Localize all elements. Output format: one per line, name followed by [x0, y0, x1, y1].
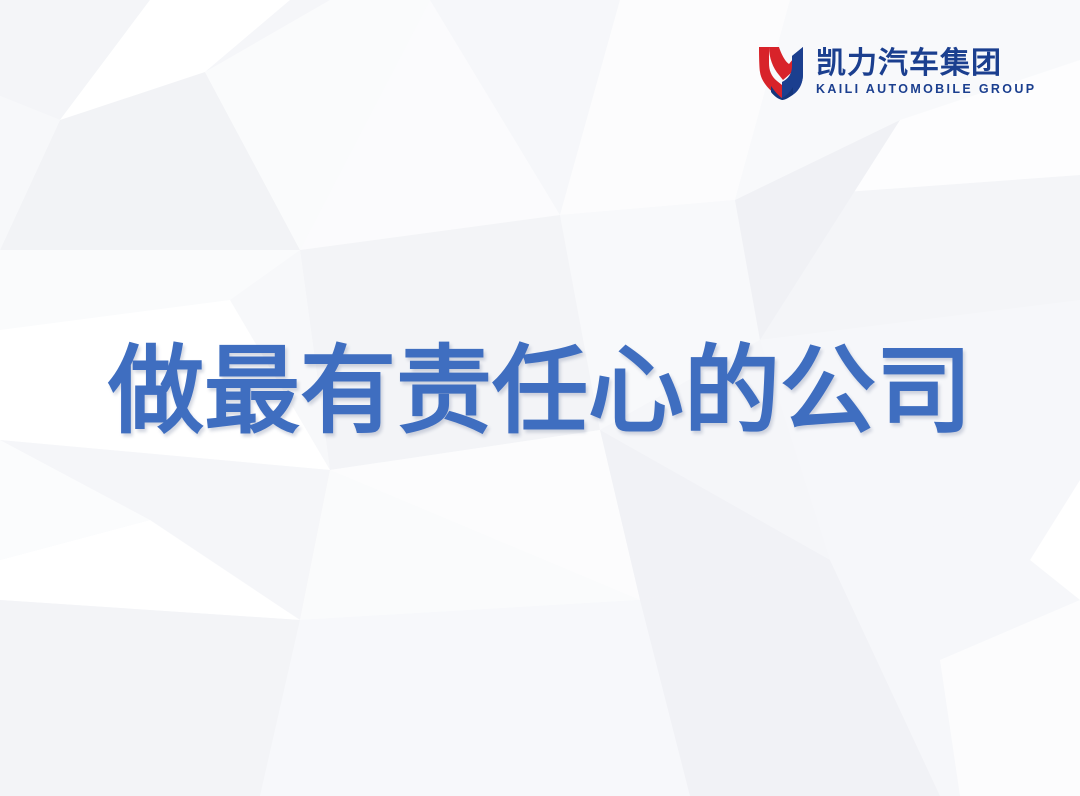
brand-name-en: KAILI AUTOMOBILE GROUP — [816, 82, 1036, 96]
brand-name-cn: 凯力汽车集团 — [816, 48, 1036, 80]
kaili-shield-logo-icon — [757, 44, 807, 100]
presentation-slide: 凯力汽车集团 KAILI AUTOMOBILE GROUP 做最有责任心的公司 — [0, 0, 1080, 796]
slide-headline: 做最有责任心的公司 — [0, 332, 1080, 450]
brand-logo-lockup: 凯力汽车集团 KAILI AUTOMOBILE GROUP — [757, 44, 1036, 100]
brand-wordmark: 凯力汽车集团 KAILI AUTOMOBILE GROUP — [816, 48, 1036, 96]
